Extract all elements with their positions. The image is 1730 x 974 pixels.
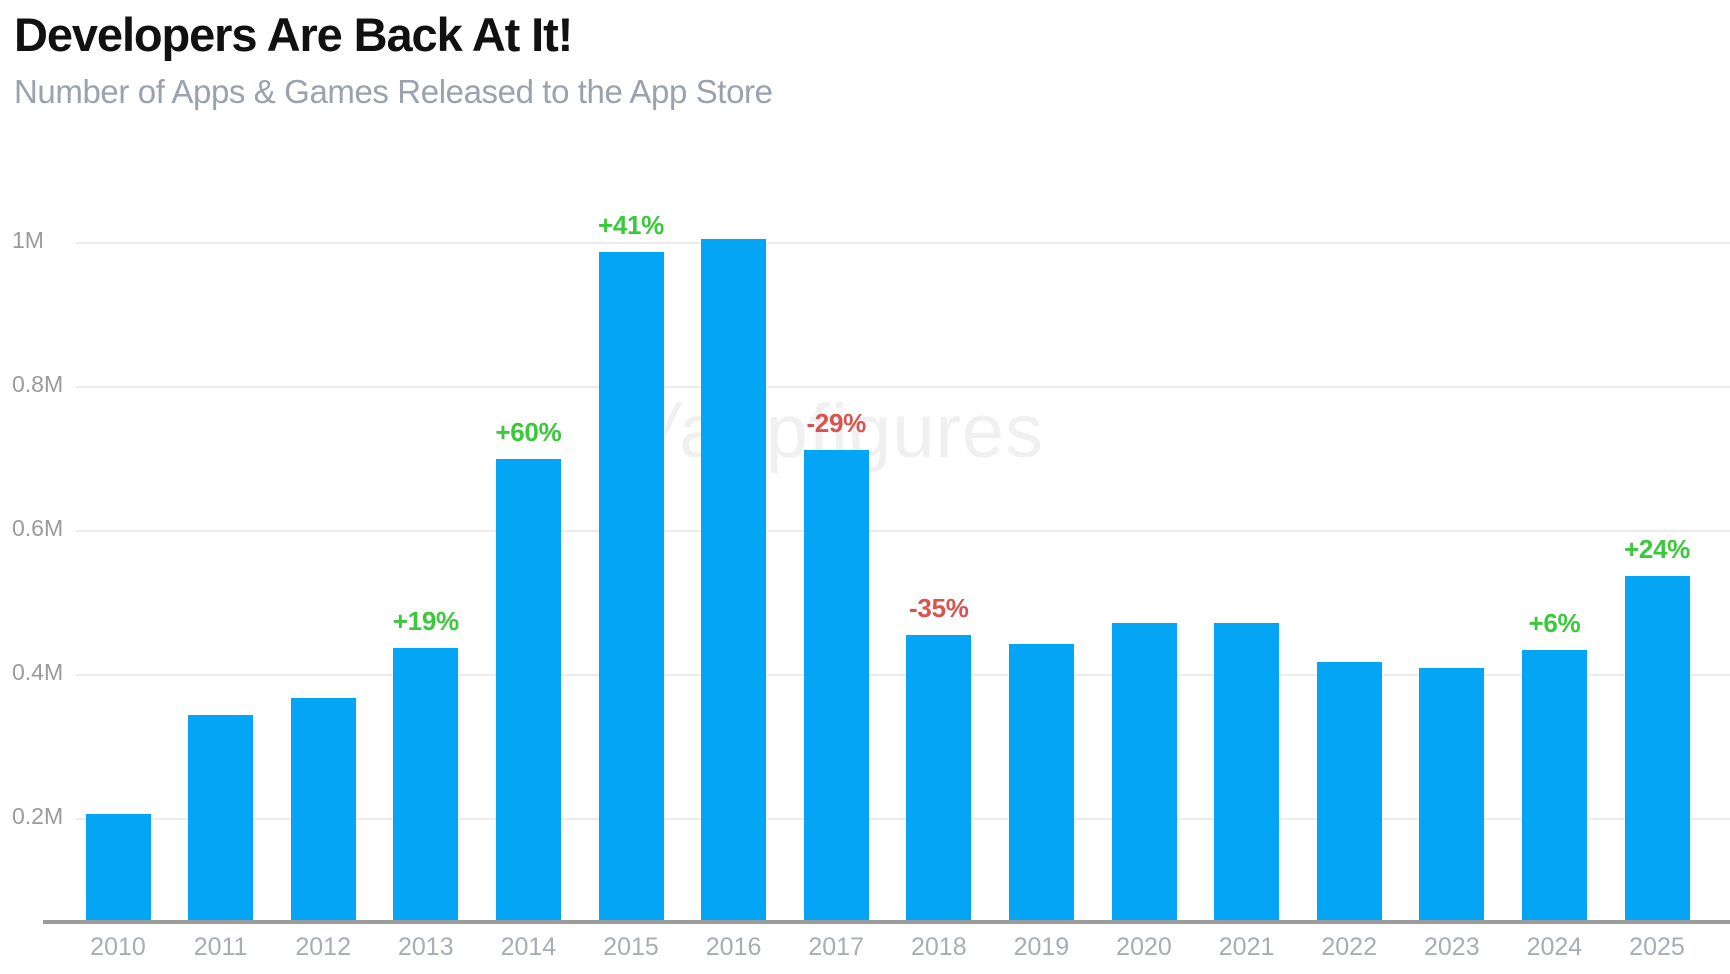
x-axis-tick-2019: 2019	[990, 933, 1093, 962]
bar-2017[interactable]	[804, 450, 869, 920]
x-axis-tick-2012: 2012	[272, 933, 375, 962]
y-axis-tick-0-2M: 0.2M	[12, 803, 63, 830]
percent-label-2013: +19%	[375, 606, 478, 637]
gridline	[76, 386, 1730, 388]
x-axis-tick-2014: 2014	[477, 933, 580, 962]
chart-container: Developers Are Back At It! Number of App…	[0, 0, 1730, 974]
bar-2025[interactable]	[1625, 576, 1690, 920]
bar-2019[interactable]	[1009, 644, 1074, 920]
x-axis-tick-2023: 2023	[1401, 933, 1504, 962]
percent-label-2024: +6%	[1503, 608, 1606, 639]
x-axis-tick-2013: 2013	[375, 933, 478, 962]
x-axis-tick-2022: 2022	[1298, 933, 1401, 962]
percent-label-2014: +60%	[477, 417, 580, 448]
bar-2024[interactable]	[1522, 650, 1587, 920]
percent-label-2017: -29%	[785, 408, 888, 439]
gridline	[76, 530, 1730, 532]
bar-2012[interactable]	[291, 698, 356, 920]
plot-area: /appfigures 1M0.8M0.6M0.4M0.2M +19%+60%+…	[0, 0, 1730, 974]
x-axis-tick-2015: 2015	[580, 933, 683, 962]
x-axis-tick-2025: 2025	[1606, 933, 1709, 962]
bar-2011[interactable]	[188, 715, 253, 920]
x-axis-tick-2021: 2021	[1195, 933, 1298, 962]
percent-label-2015: +41%	[580, 210, 683, 241]
x-axis-tick-2024: 2024	[1503, 933, 1606, 962]
y-axis-tick-0-4M: 0.4M	[12, 659, 63, 686]
y-axis-tick-0-6M: 0.6M	[12, 515, 63, 542]
y-axis-tick-1M: 1M	[12, 227, 44, 254]
bar-2015[interactable]	[599, 252, 664, 920]
x-axis-line	[43, 920, 1730, 924]
bar-2020[interactable]	[1112, 623, 1177, 920]
bar-2021[interactable]	[1214, 623, 1279, 920]
x-axis-tick-2017: 2017	[785, 933, 888, 962]
x-axis-tick-2010: 2010	[67, 933, 170, 962]
bar-2010[interactable]	[86, 814, 151, 920]
x-axis-tick-2011: 2011	[169, 933, 272, 962]
x-axis-tick-2016: 2016	[682, 933, 785, 962]
bar-2022[interactable]	[1317, 662, 1382, 920]
bar-2013[interactable]	[393, 648, 458, 920]
x-axis-tick-2018: 2018	[888, 933, 991, 962]
bar-2014[interactable]	[496, 459, 561, 920]
x-axis-tick-2020: 2020	[1093, 933, 1196, 962]
percent-label-2025: +24%	[1606, 534, 1709, 565]
bar-2018[interactable]	[906, 635, 971, 920]
percent-label-2018: -35%	[888, 593, 991, 624]
gridline	[76, 242, 1730, 244]
bar-2016[interactable]	[701, 239, 766, 920]
y-axis-tick-0-8M: 0.8M	[12, 371, 63, 398]
bar-2023[interactable]	[1419, 668, 1484, 920]
